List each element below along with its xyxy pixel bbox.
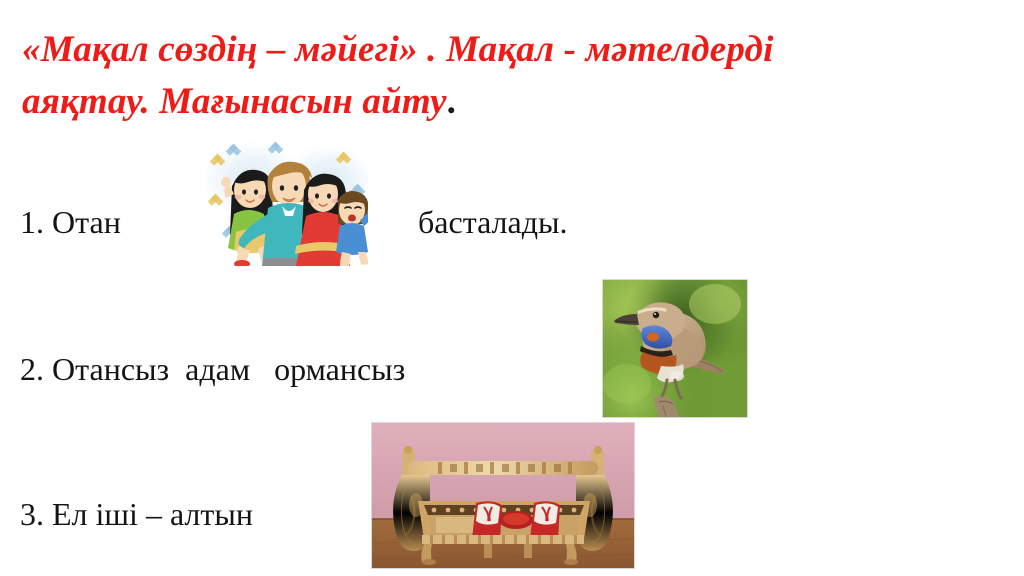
- cradle-photo-graphic: [372, 423, 634, 568]
- title-final-period: .: [447, 81, 456, 122]
- slide-title: «Мақал сөздің – мәйегі» . Мақал - мәтелд…: [22, 24, 1002, 128]
- family-clipart-image: [206, 142, 368, 266]
- family-figures-illustration: [206, 142, 368, 266]
- proverb-1-text-end: басталады.: [418, 203, 568, 241]
- proverb-1-text-start: 1. Отан: [20, 203, 121, 241]
- slide-canvas: «Мақал сөздің – мәйегі» . Мақал - мәтелд…: [0, 0, 1024, 576]
- kazakh-cradle-image: [371, 422, 635, 569]
- title-line-2-text: аяқтау. Мағынасын айту: [22, 81, 447, 122]
- proverb-2-text: 2. Отансыз адам ормансыз: [20, 350, 405, 388]
- title-line-2: аяқтау. Мағынасын айту.: [22, 76, 1002, 128]
- proverb-3-text: 3. Ел іші – алтын: [20, 495, 253, 533]
- title-line-1: «Мақал сөздің – мәйегі» . Мақал - мәтелд…: [22, 24, 1002, 76]
- bird-photo-graphic: [603, 280, 747, 417]
- bluethroat-bird-image: [602, 279, 748, 418]
